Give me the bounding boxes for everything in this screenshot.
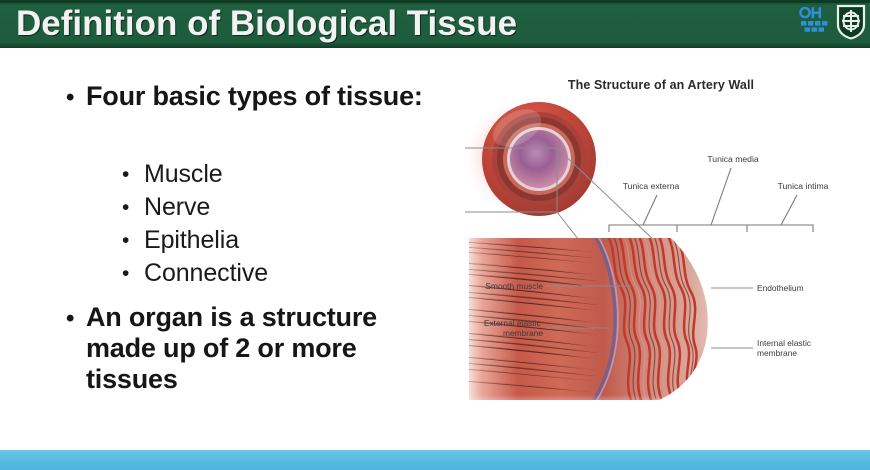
bullet-marker: • [66,82,74,113]
label-tunica-media: Tunica media [707,154,758,164]
bullet-item-primary-1: • Four basic types of tissue: [86,81,436,112]
list-item-label: Muscle [144,160,223,188]
artery-wall-figure: The Structure of an Artery Wall [461,66,861,416]
tissue-type-list: • Muscle • Nerve • Epithelia • Connectiv… [122,158,268,290]
list-item-muscle: • Muscle [122,158,268,191]
label-tunica-externa: Tunica externa [623,181,680,191]
bullet-label: Four basic types of tissue: [86,81,423,111]
slide: Definition of Biological Tissue [0,0,870,470]
list-item-connective: • Connective [122,257,268,290]
wall-label-leaders-right [711,288,753,348]
artery-cross-section [461,96,605,220]
slide-body: • Four basic types of tissue: • Muscle •… [0,48,460,428]
list-item-label: Epithelia [144,226,239,254]
label-smooth-muscle: Smooth muscle [485,281,543,291]
label-endothelium: Endothelium [757,283,804,293]
page-title: Definition of Biological Tissue [16,1,517,47]
label-tunica-intima: Tunica intima [778,181,829,191]
footer-accent-bar [0,450,870,470]
list-item-label: Nerve [144,193,210,221]
tunica-bracket [609,168,813,232]
list-item-epithelia: • Epithelia [122,224,268,257]
artery-wall-illustration: Tunica media Tunica externa Tunica intim… [461,66,861,416]
bullet-item-primary-2: • An organ is a structure made up of 2 o… [86,302,446,395]
slide-header: Definition of Biological Tissue [0,0,870,48]
list-item-nerve: • Nerve [122,191,268,224]
bullet-label: An organ is a structure made up of 2 or … [86,302,377,394]
label-internal-elastic-membrane: Internal elastic membrane [757,338,813,358]
university-shield-logo-icon [836,4,866,40]
bullet-marker: • [66,303,74,334]
bullet-marker: • [122,257,129,290]
header-logos [797,2,866,42]
bullet-marker: • [122,191,129,224]
bullet-marker: • [122,224,129,257]
list-item-label: Connective [144,259,268,287]
bullet-marker: • [122,158,129,191]
osh-ecri-lab-logo-icon [797,5,833,39]
